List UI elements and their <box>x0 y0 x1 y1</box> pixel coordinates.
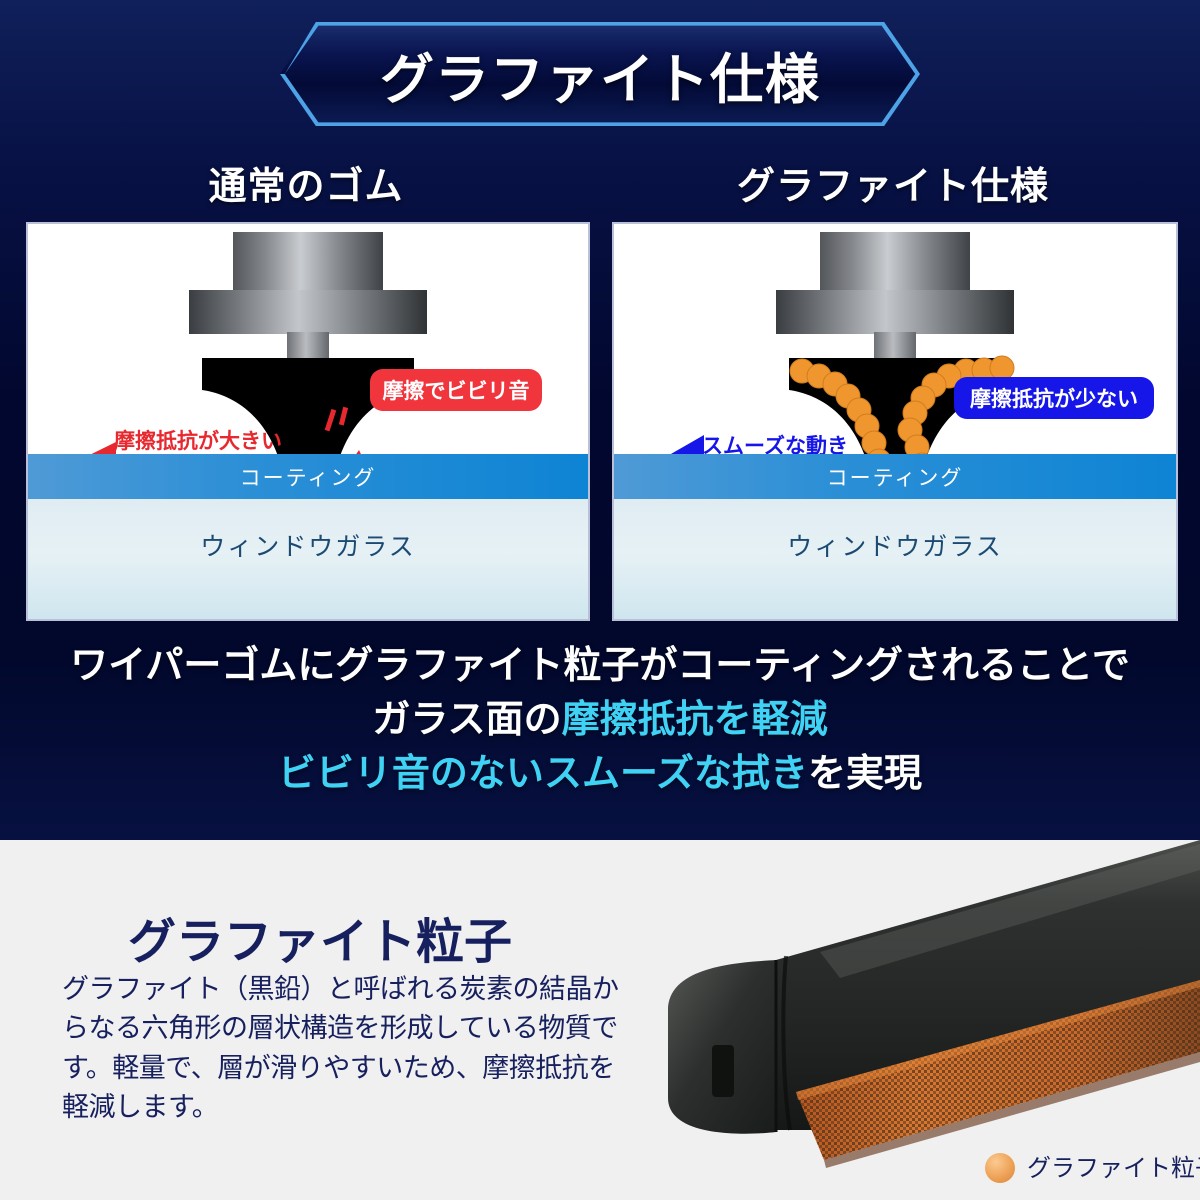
coating-label-left: コーティング <box>240 462 377 492</box>
page-title: グラファイト仕様 <box>280 22 920 126</box>
glass-layer-right: ウィンドウガラス <box>614 499 1176 619</box>
summary-line-3-pre: ビビリ音のない <box>278 753 544 795</box>
summary-line-2-highlight: 摩擦抵抗を軽減 <box>562 699 828 741</box>
badge-low-friction: 摩擦抵抗が少ない <box>954 377 1154 419</box>
diagram-panel-normal-rubber: 摩擦でビビリ音 摩擦抵抗が大きい コーティング ウィンドウガラス <box>26 222 590 621</box>
summary-line-2: ガラス面の摩擦抵抗を軽減 <box>0 694 1200 748</box>
bottom-section-title: グラファイト粒子 <box>60 902 580 972</box>
wiper-blade-illustration <box>600 830 1200 1200</box>
summary-text: ワイパーゴムにグラファイト粒子がコーティングされることで ガラス面の摩擦抵抗を軽… <box>0 640 1200 802</box>
top-section: グラファイト仕様 通常のゴム グラファイト仕様 <box>0 0 1200 840</box>
graphite-legend-dot-icon <box>985 1153 1015 1183</box>
coating-layer-right: コーティング <box>614 454 1176 499</box>
summary-line-2-pre: ガラス面の <box>372 699 561 741</box>
summary-line-3: ビビリ音のないスムーズな拭きを実現 <box>0 748 1200 802</box>
bottom-legend: グラファイト粒子 <box>985 1148 1200 1183</box>
infographic-root: グラファイト仕様 通常のゴム グラファイト仕様 <box>0 0 1200 1200</box>
panel-heading-right: グラファイト仕様 <box>612 155 1174 210</box>
coating-layer-left: コーティング <box>28 454 588 499</box>
glass-label-left: ウィンドウガラス <box>200 527 416 563</box>
glass-layer-left: ウィンドウガラス <box>28 499 588 619</box>
summary-line-3-highlight: スムーズな拭き <box>544 753 808 795</box>
label-high-friction: 摩擦抵抗が大きい <box>114 425 282 455</box>
bottom-section-body: グラファイト（黒鉛）と呼ばれる炭素の結晶からなる六角形の層状構造を形成している物… <box>62 970 632 1128</box>
header-banner: グラファイト仕様 <box>280 22 920 126</box>
coating-label-right: コーティング <box>827 462 964 492</box>
wiper-blade-photo <box>600 830 1200 1200</box>
bottom-legend-label: グラファイト粒子 <box>1027 1155 1200 1182</box>
summary-line-1: ワイパーゴムにグラファイト粒子がコーティングされることで <box>0 640 1200 694</box>
glass-label-right: ウィンドウガラス <box>787 527 1003 563</box>
bottom-section: グラファイト粒子 グラファイト（黒鉛）と呼ばれる炭素の結晶からなる六角形の層状構… <box>0 840 1200 1200</box>
badge-friction-noise: 摩擦でビビリ音 <box>370 369 542 411</box>
diagram-panel-graphite: 摩擦抵抗が少ない スムーズな動き グラファイト粒子 コーティング ウィンドウガラ… <box>612 222 1178 621</box>
summary-line-3-post: を実現 <box>808 753 922 795</box>
panel-heading-left: 通常のゴム <box>26 155 586 210</box>
